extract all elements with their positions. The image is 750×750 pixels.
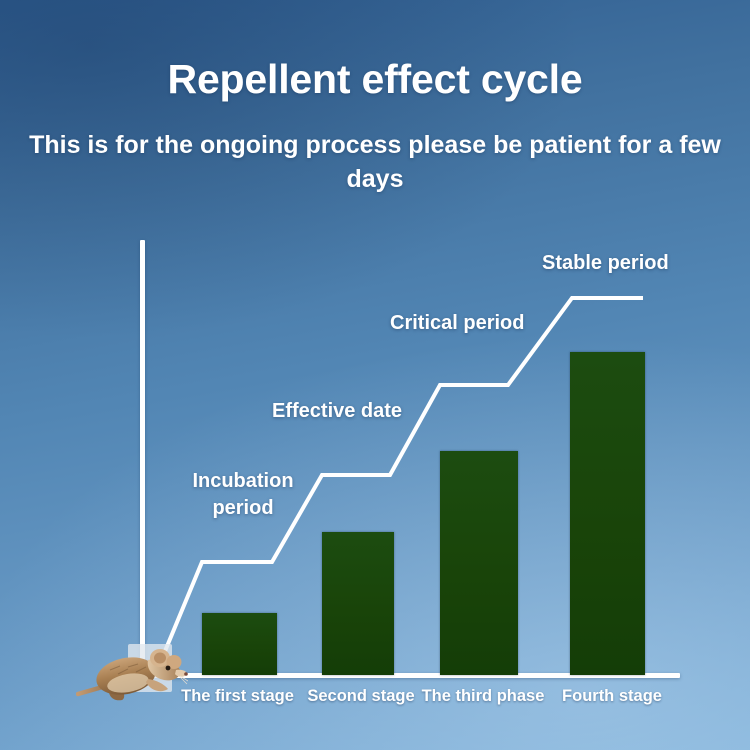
annotation-effective-date: Effective date xyxy=(272,398,402,425)
bar-3 xyxy=(440,451,518,675)
y-axis-line xyxy=(140,240,145,678)
x-axis-label-2: Second stage xyxy=(296,687,426,706)
x-axis-label-1: The first stage xyxy=(170,687,305,706)
bar-4 xyxy=(570,352,645,675)
poster-canvas: Repellent effect cycle This is for the o… xyxy=(0,0,750,750)
mouse-photo xyxy=(76,636,188,710)
bar-1 xyxy=(202,613,277,675)
bar-2 xyxy=(322,532,394,675)
annotation-incubation-period: Incubation period xyxy=(168,468,318,522)
x-axis-label-3: The third phase xyxy=(412,687,554,706)
annotation-critical-period: Critical period xyxy=(390,310,524,337)
x-axis-label-4: Fourth stage xyxy=(548,687,676,706)
annotation-stable-period: Stable period xyxy=(542,250,669,277)
